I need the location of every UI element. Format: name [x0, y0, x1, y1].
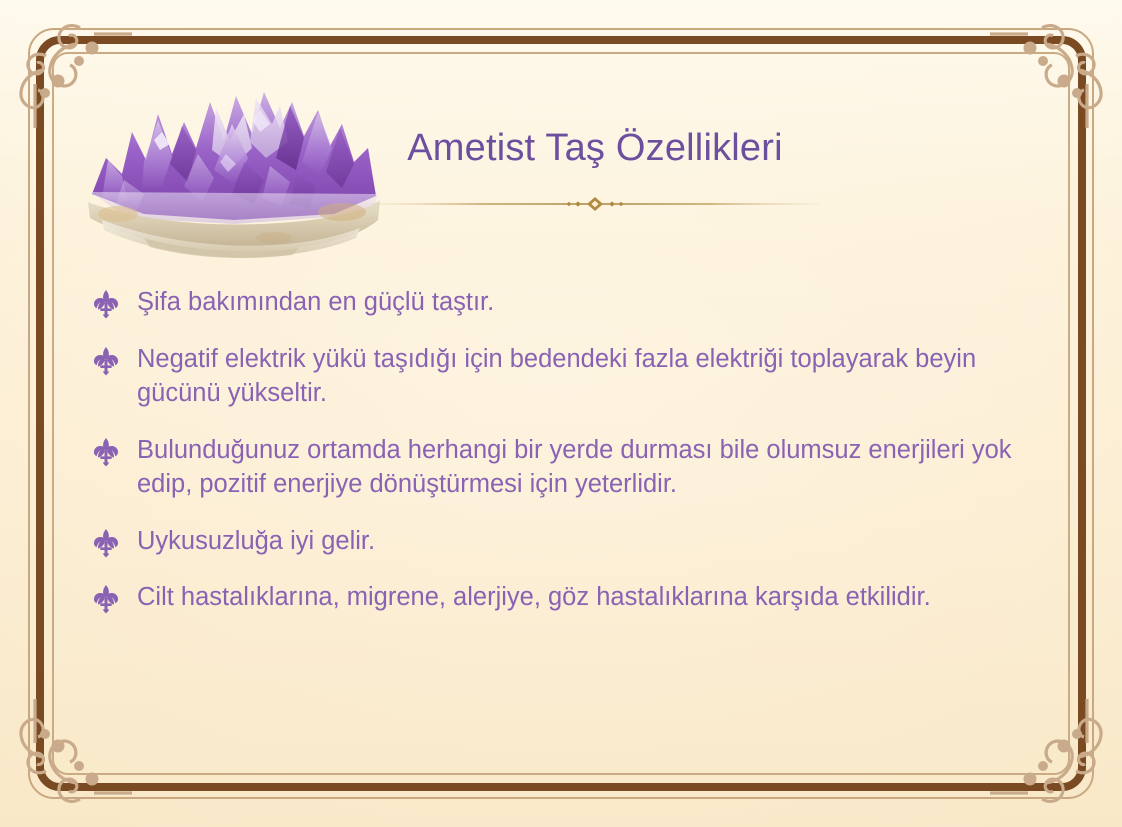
- fleur-de-lis-icon: [92, 528, 120, 558]
- fleur-de-lis-icon: [92, 346, 120, 376]
- fleur-de-lis-icon: [92, 584, 120, 614]
- scroll-corner-ornament-icon: [984, 6, 1116, 130]
- list-item-text: Şifa bakımından en güçlü taştır.: [137, 286, 494, 320]
- properties-list: Şifa bakımından en güçlü taştır. Negatif…: [92, 286, 1057, 615]
- page-title: Ametist Taş Özellikleri: [370, 128, 820, 170]
- list-item: Cilt hastalıklarına, migrene, alerjiye, …: [92, 581, 1057, 615]
- diamond-divider-ornament-icon: [370, 196, 820, 212]
- amethyst-properties-card: Ametist Taş Özellikleri: [0, 0, 1122, 827]
- list-item-text: Bulunduğunuz ortamda herhangi bir yerde …: [137, 434, 1057, 502]
- list-item-text: Cilt hastalıklarına, migrene, alerjiye, …: [137, 581, 931, 615]
- fleur-de-lis-icon: [92, 289, 120, 319]
- title-block: Ametist Taş Özellikleri: [370, 128, 820, 212]
- list-item-text: Negatif elektrik yükü taşıdığı için bede…: [137, 343, 1057, 411]
- scroll-corner-ornament-icon: [6, 697, 138, 821]
- list-item: Bulunduğunuz ortamda herhangi bir yerde …: [92, 434, 1057, 502]
- list-item: Şifa bakımından en güçlü taştır.: [92, 286, 1057, 320]
- list-item-text: Uykusuzluğa iyi gelir.: [137, 525, 375, 559]
- fleur-de-lis-icon: [92, 437, 120, 467]
- amethyst-crystal-image: [84, 62, 384, 272]
- list-item: Uykusuzluğa iyi gelir.: [92, 525, 1057, 559]
- list-item: Negatif elektrik yükü taşıdığı için bede…: [92, 343, 1057, 411]
- scroll-corner-ornament-icon: [984, 697, 1116, 821]
